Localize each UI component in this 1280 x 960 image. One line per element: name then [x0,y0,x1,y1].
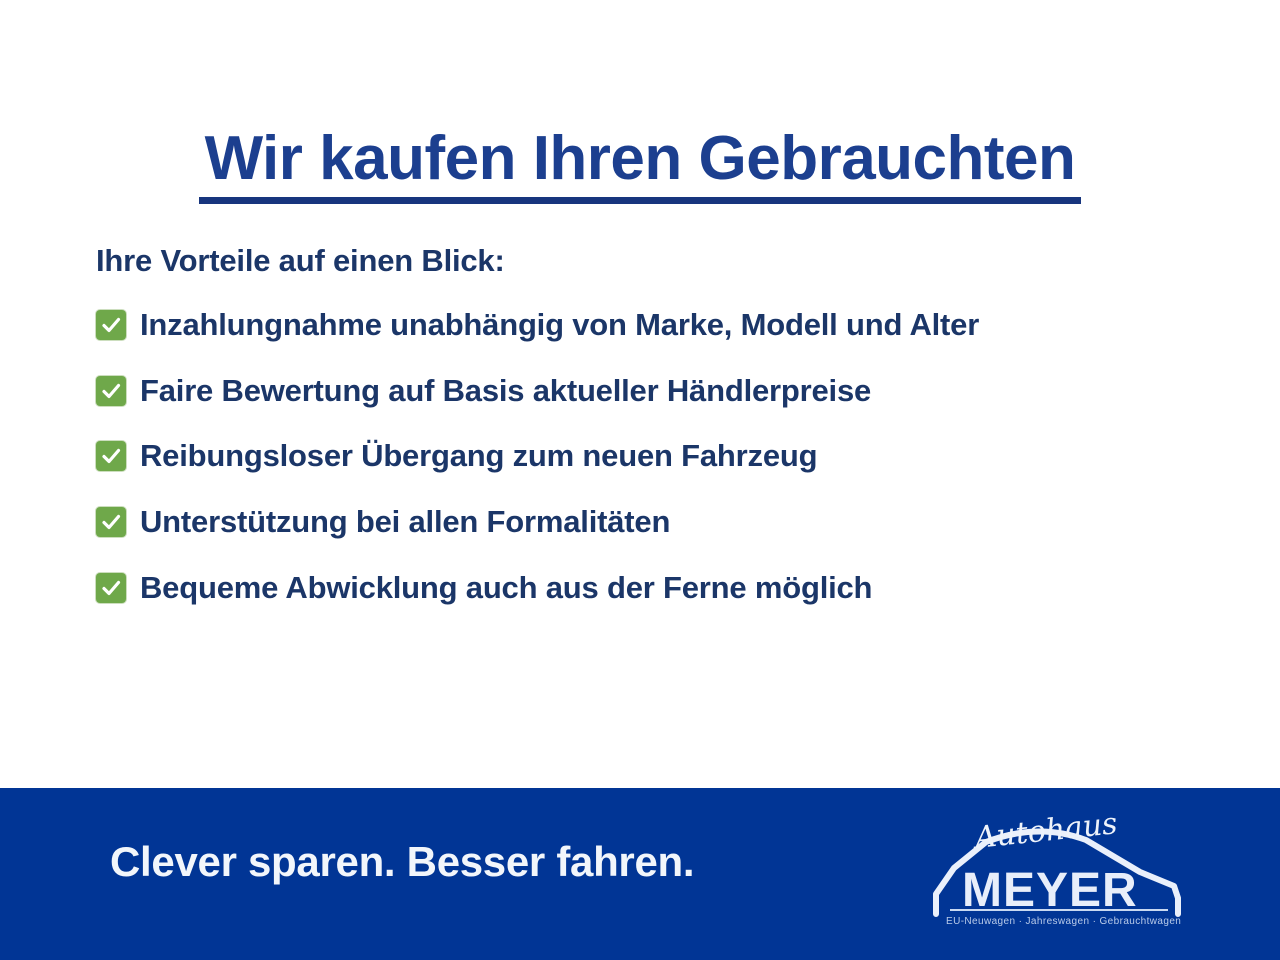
list-item: Reibungsloser Übergang zum neuen Fahrzeu… [96,438,1216,474]
benefit-text: Faire Bewertung auf Basis aktueller Händ… [140,373,871,409]
benefit-text: Inzahlungnahme unabhängig von Marke, Mod… [140,307,979,343]
check-box-icon [96,441,126,471]
list-item: Inzahlungnahme unabhängig von Marke, Mod… [96,307,1216,343]
footer-banner: Clever sparen. Besser fahren. Autohaus M… [0,788,1280,960]
check-box-icon [96,376,126,406]
list-item: Bequeme Abwicklung auch aus der Ferne mö… [96,570,1216,606]
advertisement-slide: Wir kaufen Ihren Gebrauchten Ihre Vortei… [0,0,1280,960]
footer-tagline: Clever sparen. Besser fahren. [110,838,694,886]
check-box-icon [96,310,126,340]
check-box-icon [96,507,126,537]
headline-container: Wir kaufen Ihren Gebrauchten [0,84,1280,245]
benefits-list: Inzahlungnahme unabhängig von Marke, Mod… [96,307,1216,605]
benefit-text: Unterstützung bei allen Formalitäten [140,504,670,540]
benefit-text: Bequeme Abwicklung auch aus der Ferne mö… [140,570,872,606]
benefit-text: Reibungsloser Übergang zum neuen Fahrzeu… [140,438,817,474]
benefits-title: Ihre Vorteile auf einen Blick: [96,242,1216,279]
dealer-logo: Autohaus MEYER EU-Neuwagen · Jahreswagen… [928,806,1188,936]
list-item: Unterstützung bei allen Formalitäten [96,504,1216,540]
page-title: Wir kaufen Ihren Gebrauchten [199,126,1082,204]
svg-text:MEYER: MEYER [962,864,1138,917]
list-item: Faire Bewertung auf Basis aktueller Händ… [96,373,1216,409]
benefits-section: Ihre Vorteile auf einen Blick: Inzahlung… [96,242,1216,605]
svg-text:EU-Neuwagen · Jahreswagen · Ge: EU-Neuwagen · Jahreswagen · Gebrauchtwag… [946,916,1181,927]
check-box-icon [96,573,126,603]
